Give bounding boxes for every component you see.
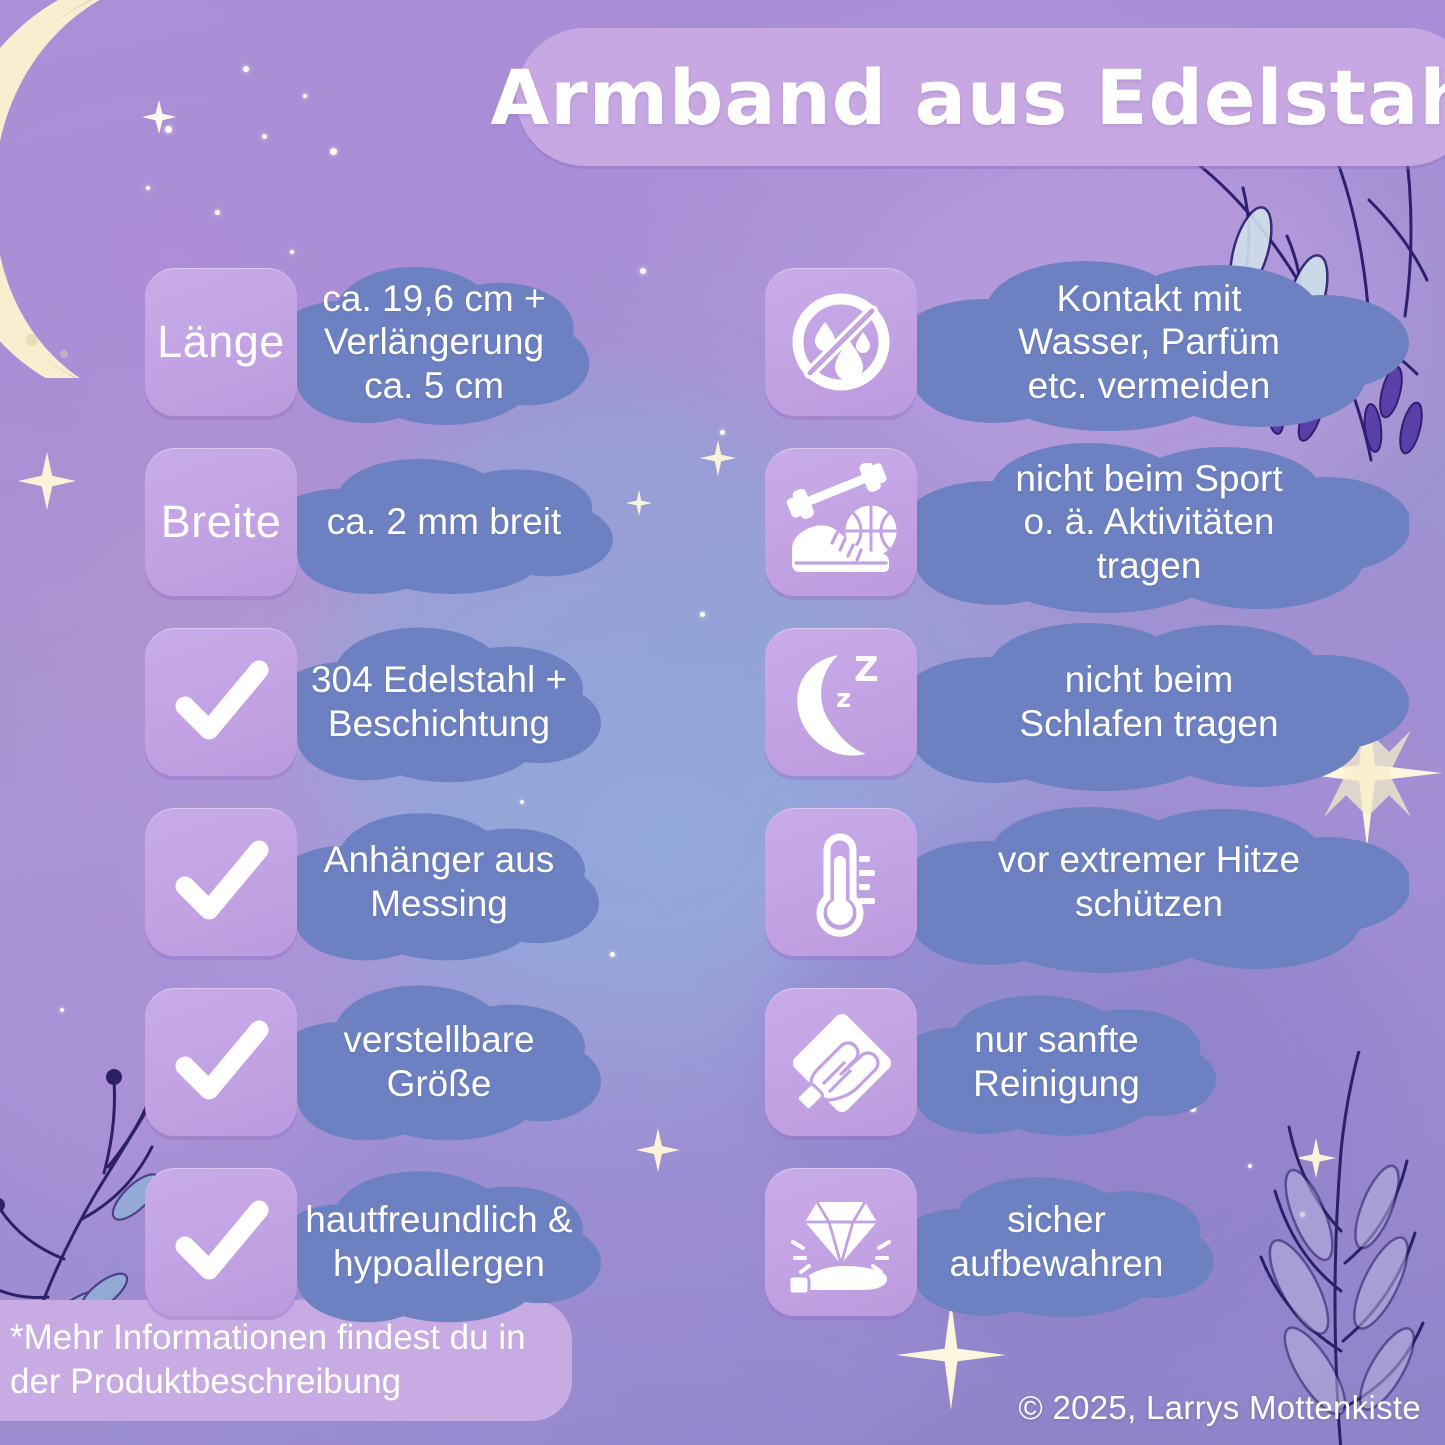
tile-label: Länge — [157, 316, 285, 368]
feature-tile-check[interactable] — [145, 628, 297, 776]
star-dot — [60, 1008, 64, 1012]
svg-text:Z: Z — [854, 650, 879, 690]
feature-cloud: Anhänger aus Messing — [269, 796, 609, 968]
left-feature-column: Länge c — [145, 252, 619, 1332]
care-tile-no-water[interactable] — [765, 268, 917, 416]
care-text: nicht beim Schlafen tragen — [993, 658, 1304, 745]
feature-cloud: ca. 2 mm breit — [269, 443, 619, 601]
check-icon — [169, 1010, 273, 1114]
star-dot — [215, 210, 220, 215]
sparkle-star-icon — [636, 1128, 680, 1172]
star-dot — [640, 268, 646, 274]
care-row: Kontakt mit Wasser, Parfüm etc. vermeide… — [765, 252, 1409, 432]
care-cloud: nur sanfte Reinigung — [889, 983, 1224, 1141]
feature-row: Länge c — [145, 252, 619, 432]
feature-row: Breite — [145, 432, 619, 612]
svg-text:z: z — [836, 684, 851, 714]
feature-text: 304 Edelstahl + Beschichtung — [285, 658, 593, 745]
copyright-text: © 2025, Larrys Mottenkiste — [1018, 1389, 1421, 1427]
care-tile-cleaning[interactable] — [765, 988, 917, 1136]
star-dot — [243, 66, 249, 72]
care-cloud: sicher aufbewahren — [889, 1163, 1224, 1321]
sleep-moon-icon: Z z — [784, 645, 898, 759]
sparkle-star-icon — [700, 440, 736, 476]
feature-tile-check[interactable] — [145, 808, 297, 956]
star-dot — [262, 134, 267, 139]
right-care-column: Kontakt mit Wasser, Parfüm etc. vermeide… — [765, 252, 1409, 1332]
care-row: Z z — [765, 612, 1409, 792]
sparkle-star-icon — [18, 452, 76, 510]
care-cloud: nicht beim Sport o. ä. Aktivitäten trage… — [889, 431, 1409, 613]
sparkle-star-icon — [626, 490, 652, 516]
care-row: sicher aufbewahren — [765, 1152, 1409, 1332]
feature-tile-check[interactable] — [145, 988, 297, 1136]
care-text: sicher aufbewahren — [924, 1198, 1190, 1285]
care-tile-no-sleep[interactable]: Z z — [765, 628, 917, 776]
thermometer-icon — [785, 826, 897, 938]
care-cloud: nicht beim Schlafen tragen — [889, 611, 1409, 793]
check-icon — [169, 830, 273, 934]
feature-text: ca. 19,6 cm + Verlängerung ca. 5 cm — [296, 277, 571, 408]
feature-text: hautfreundlich & hypoallergen — [279, 1198, 598, 1285]
feature-text: ca. 2 mm breit — [301, 500, 587, 544]
feature-text: verstellbare Größe — [317, 1018, 560, 1105]
feature-row: Anhänger aus Messing — [145, 792, 619, 972]
star-dot — [700, 612, 705, 617]
feature-tile-breite[interactable]: Breite — [145, 448, 297, 596]
care-row: vor extremer Hitze schützen — [765, 792, 1409, 972]
feature-cloud: hautfreundlich & hypoallergen — [269, 1156, 609, 1328]
tile-label: Breite — [161, 496, 282, 548]
care-tile-no-sport[interactable] — [765, 448, 917, 596]
check-icon — [169, 650, 273, 754]
star-dot — [303, 94, 307, 98]
cleaning-icon — [783, 1004, 899, 1120]
feature-tile-check[interactable] — [145, 1168, 297, 1316]
star-dot — [146, 186, 150, 190]
star-dot — [720, 430, 725, 435]
care-cloud: vor extremer Hitze schützen — [889, 791, 1409, 973]
star-dot — [330, 148, 337, 155]
care-cloud: Kontakt mit Wasser, Parfüm etc. vermeide… — [889, 251, 1409, 433]
care-text: Kontakt mit Wasser, Parfüm etc. vermeide… — [992, 277, 1306, 408]
care-row: nicht beim Sport o. ä. Aktivitäten trage… — [765, 432, 1409, 612]
care-text: nicht beim Sport o. ä. Aktivitäten trage… — [989, 457, 1308, 588]
page-title: Armband aus Edelstahl — [490, 53, 1445, 142]
no-water-icon — [787, 288, 895, 396]
sport-icon — [782, 463, 900, 581]
feature-cloud: ca. 19,6 cm + Verlängerung ca. 5 cm — [269, 253, 599, 431]
feature-row: 304 Edelstahl + Beschichtung — [145, 612, 619, 792]
care-text: vor extremer Hitze schützen — [972, 838, 1326, 925]
feature-cloud: verstellbare Größe — [269, 976, 609, 1148]
title-banner: Armband aus Edelstahl — [516, 28, 1445, 166]
care-tile-heat[interactable] — [765, 808, 917, 956]
feature-row: hautfreundlich & hypoallergen — [145, 1152, 619, 1332]
diamond-hand-icon — [783, 1184, 899, 1300]
care-text: nur sanfte Reinigung — [947, 1018, 1166, 1105]
feature-text: Anhänger aus Messing — [298, 838, 580, 925]
feature-row: verstellbare Größe — [145, 972, 619, 1152]
check-icon — [169, 1190, 273, 1294]
care-tile-storage[interactable] — [765, 1168, 917, 1316]
infographic-poster: Armband aus Edelstahl Länge — [0, 0, 1445, 1445]
feature-cloud: 304 Edelstahl + Beschichtung — [269, 616, 609, 788]
care-row: nur sanfte Reinigung — [765, 972, 1409, 1152]
sparkle-star-icon — [142, 100, 176, 134]
feature-tile-laenge[interactable]: Länge — [145, 268, 297, 416]
